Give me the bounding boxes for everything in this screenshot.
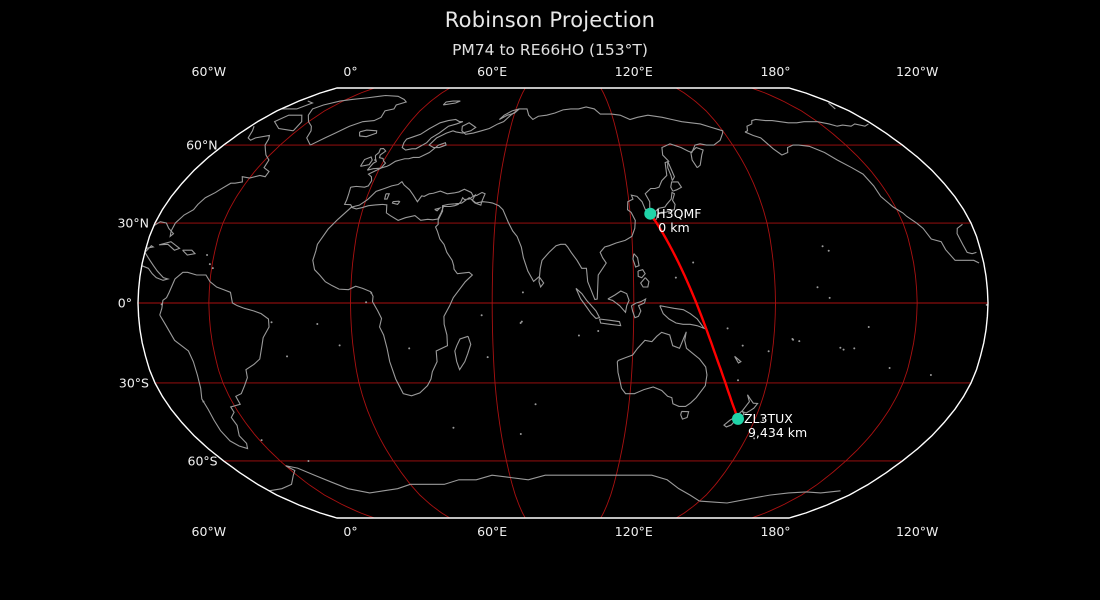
lat-tick-label: 30°N bbox=[40, 216, 149, 231]
island-speck bbox=[161, 303, 163, 305]
coastline-segment bbox=[660, 306, 704, 329]
coastline-segment bbox=[745, 119, 869, 131]
coastline-segment bbox=[275, 115, 302, 131]
coastline-segment bbox=[681, 411, 689, 419]
island-speck bbox=[737, 379, 739, 381]
island-speck bbox=[520, 322, 522, 324]
coastline-segment bbox=[691, 148, 703, 168]
coastline-segment bbox=[183, 250, 195, 255]
coastline-segment bbox=[668, 161, 675, 180]
island-speck bbox=[798, 340, 800, 342]
coastline-segment bbox=[455, 336, 471, 369]
island-speck bbox=[692, 261, 694, 263]
island-speck bbox=[481, 314, 483, 316]
island-speck bbox=[452, 427, 454, 429]
island-speck bbox=[522, 291, 524, 293]
lon-tick-label-bottom: 120°E bbox=[615, 524, 653, 539]
lon-tick-label-bottom: 180° bbox=[760, 524, 790, 539]
island-speck bbox=[791, 338, 793, 340]
lon-tick-label-top: 120°W bbox=[896, 64, 938, 79]
marker-distance: 9,434 km bbox=[748, 426, 807, 441]
island-speck bbox=[307, 460, 309, 462]
island-speck bbox=[822, 245, 824, 247]
coastline-segment bbox=[539, 277, 544, 287]
island-speck bbox=[597, 330, 599, 332]
lon-tick-label-top: 60°W bbox=[192, 64, 227, 79]
island-speck bbox=[675, 277, 677, 279]
lat-tick-label: 0° bbox=[40, 296, 132, 311]
island-speck bbox=[487, 356, 489, 358]
lon-tick-label-top: 60°E bbox=[477, 64, 507, 79]
island-speck bbox=[408, 347, 410, 349]
coastline-segment bbox=[360, 157, 372, 166]
marker-label-origin: H3QMF0 km bbox=[656, 207, 701, 236]
coastline-segment bbox=[159, 242, 180, 251]
coastline-segment bbox=[638, 270, 645, 278]
coastline-segment bbox=[617, 332, 707, 407]
lat-tick-label: 60°N bbox=[40, 138, 218, 153]
coastline-segment bbox=[385, 194, 390, 199]
island-speck bbox=[843, 349, 845, 351]
lon-tick-label-bottom: 60°W bbox=[192, 524, 227, 539]
island-speck bbox=[727, 327, 729, 329]
coastline-segment bbox=[699, 491, 840, 503]
island-speck bbox=[286, 355, 288, 357]
island-speck bbox=[374, 159, 376, 161]
island-speck bbox=[828, 250, 830, 252]
marker-callsign: ZL3TUX bbox=[744, 412, 807, 427]
lon-tick-label-bottom: 120°W bbox=[896, 524, 938, 539]
coastline-segment bbox=[297, 101, 312, 109]
island-speck bbox=[817, 286, 819, 288]
coastline-segment bbox=[608, 291, 629, 312]
island-speck bbox=[202, 401, 204, 403]
island-speck bbox=[261, 439, 263, 441]
island-speck bbox=[930, 374, 932, 376]
coastline-segment bbox=[307, 96, 406, 146]
lat-tick-label: 60°S bbox=[40, 453, 218, 468]
coastline-segment bbox=[641, 278, 649, 287]
map-figure: Robinson Projection PM74 to RE66HO (153°… bbox=[0, 0, 1100, 600]
coastline-segment bbox=[435, 208, 440, 211]
coastline-segment bbox=[160, 272, 269, 448]
coastline-segment bbox=[671, 182, 682, 191]
lon-tick-label-bottom: 60°E bbox=[477, 524, 507, 539]
island-speck bbox=[839, 347, 841, 349]
island-speck bbox=[535, 403, 537, 405]
marker-label-destination: ZL3TUX9,434 km bbox=[744, 412, 807, 441]
island-speck bbox=[365, 301, 367, 303]
lon-tick-label-bottom: 0° bbox=[343, 524, 357, 539]
coastline-segment bbox=[600, 319, 621, 326]
island-speck bbox=[316, 323, 318, 325]
island-speck bbox=[520, 433, 522, 435]
island-speck bbox=[212, 267, 214, 269]
island-speck bbox=[768, 350, 770, 352]
coastline-segment bbox=[269, 466, 699, 501]
island-speck bbox=[889, 367, 891, 369]
island-speck bbox=[853, 347, 855, 349]
marker-origin[interactable] bbox=[644, 208, 656, 220]
coastline-segment bbox=[735, 356, 741, 363]
island-speck bbox=[339, 344, 341, 346]
lon-tick-label-top: 120°E bbox=[615, 64, 653, 79]
coastline-segment bbox=[360, 130, 377, 137]
coastline-segment bbox=[633, 254, 639, 267]
lon-tick-label-top: 0° bbox=[343, 64, 357, 79]
marker-callsign: H3QMF bbox=[656, 207, 701, 222]
marker-destination[interactable] bbox=[732, 413, 744, 425]
island-speck bbox=[868, 326, 870, 328]
robinson-map bbox=[0, 0, 1100, 600]
island-speck bbox=[829, 297, 831, 299]
island-speck bbox=[271, 321, 273, 323]
coastline-segment bbox=[443, 101, 460, 105]
island-speck bbox=[742, 345, 744, 347]
coastline-segment bbox=[392, 201, 399, 204]
lon-tick-label-top: 180° bbox=[760, 64, 790, 79]
island-speck bbox=[209, 263, 211, 265]
island-speck bbox=[370, 292, 372, 294]
lat-tick-label: 30°S bbox=[40, 376, 149, 391]
island-speck bbox=[206, 254, 208, 256]
coastline-segment bbox=[745, 132, 979, 263]
marker-distance: 0 km bbox=[658, 221, 701, 236]
island-speck bbox=[578, 335, 580, 337]
coastline-segment bbox=[313, 107, 723, 396]
